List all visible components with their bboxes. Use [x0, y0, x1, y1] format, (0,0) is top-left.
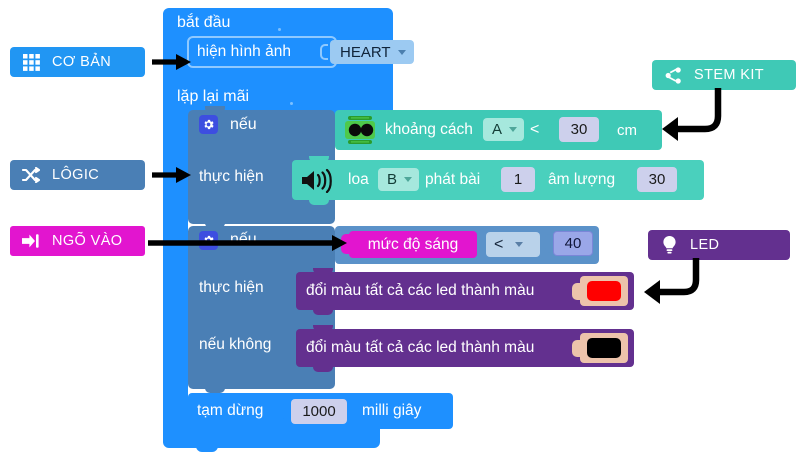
speaker-block-top-notch — [309, 156, 329, 162]
led-then-color-swatch[interactable] — [580, 276, 628, 306]
badge-logic-label: LÔGIC — [52, 167, 99, 183]
forever-label: lặp lại mãi — [177, 88, 249, 106]
speaker-volume-value: 30 — [649, 171, 666, 188]
badge-ngo-vao-label: NGÕ VÀO — [52, 233, 122, 249]
comparison-value-field[interactable]: 40 — [553, 231, 593, 256]
speaker-volume-field[interactable]: 30 — [637, 167, 677, 192]
speaker-track-value: 1 — [514, 171, 522, 188]
distance-value: 30 — [571, 121, 588, 138]
on-start-label: bắt đầu — [177, 14, 230, 32]
badge-led-label: LED — [690, 237, 719, 253]
if-2-do-label: thực hiện — [199, 279, 264, 297]
chevron-down-icon — [515, 242, 523, 247]
led-then-bottom-notch — [313, 308, 333, 315]
brightness-sensor-label: mức độ sáng — [368, 236, 459, 254]
speaker-icon — [300, 168, 336, 193]
if-1-keyword: nếu — [230, 116, 257, 134]
pause-unit: milli giây — [362, 402, 421, 420]
badge-stem-kit[interactable]: STEM KIT — [652, 60, 796, 90]
show-image-label: hiện hình ảnh — [197, 43, 291, 61]
badge-co-ban-label: CƠ BẢN — [52, 54, 111, 70]
arrow-co-ban — [152, 53, 192, 71]
chevron-down-icon — [404, 177, 412, 182]
distance-value-field[interactable]: 30 — [559, 117, 599, 142]
pause-bottom-notch — [205, 427, 225, 434]
comparison-operator-dropdown[interactable]: < — [486, 232, 540, 257]
chevron-down-icon — [509, 127, 517, 132]
show-image-dropdown[interactable]: HEART — [330, 40, 414, 64]
badge-co-ban[interactable]: CƠ BẢN — [10, 47, 145, 77]
shuffle-icon — [21, 165, 41, 185]
speaker-label-3: âm lượng — [548, 171, 615, 189]
comparison-operator-value: < — [494, 236, 503, 254]
if-2-else-label: nếu không — [199, 336, 271, 354]
arrow-ngo-vao — [148, 234, 348, 252]
speaker-track-field[interactable]: 1 — [501, 167, 535, 192]
lightbulb-icon — [659, 235, 679, 255]
arrow-led — [640, 258, 728, 306]
grid-icon — [21, 52, 41, 72]
brightness-sensor-block[interactable]: mức độ sáng — [349, 231, 477, 258]
led-then-color-fill — [587, 281, 621, 301]
sign-in-icon — [21, 231, 41, 251]
pause-value-field[interactable]: 1000 — [291, 399, 347, 424]
distance-operator: < — [530, 121, 539, 139]
on-start-dot — [278, 28, 281, 31]
badge-logic[interactable]: LÔGIC — [10, 160, 145, 190]
blocks-diagram-canvas: bắt đầu hiện hình ảnh HEART lặp lại mãi … — [0, 0, 806, 461]
if-1-do-label: thực hiện — [199, 168, 264, 186]
if-2-bottom-notch — [205, 386, 225, 393]
led-else-top-notch — [313, 325, 333, 331]
led-else-color-swatch[interactable] — [580, 333, 628, 363]
distance-label: khoảng cách — [385, 121, 473, 139]
chevron-down-icon — [398, 50, 406, 55]
led-else-bottom-notch — [313, 365, 333, 372]
speaker-block-bottom-notch — [309, 198, 329, 205]
badge-ngo-vao[interactable]: NGÕ VÀO — [10, 226, 145, 256]
led-then-label: đổi màu tất cả các led thành màu — [306, 282, 534, 300]
led-then-top-notch — [313, 268, 333, 274]
pause-label: tạm dừng — [197, 402, 263, 420]
speaker-port-value: B — [387, 171, 397, 188]
forever-dot — [290, 102, 293, 105]
badge-led[interactable]: LED — [648, 230, 790, 260]
show-image-socket-tab — [320, 44, 328, 60]
speaker-label-1: loa — [348, 171, 369, 189]
led-else-color-fill — [587, 338, 621, 358]
badge-stem-kit-label: STEM KIT — [694, 67, 764, 83]
speaker-label-2: phát bài — [425, 171, 480, 189]
ultrasonic-sensor-icon — [342, 114, 378, 146]
arrow-logic — [152, 166, 192, 184]
led-else-label: đổi màu tất cả các led thành màu — [306, 339, 534, 357]
distance-port-dropdown[interactable]: A — [483, 118, 524, 141]
speaker-port-dropdown[interactable]: B — [378, 168, 419, 191]
if-1-gear-icon[interactable] — [199, 115, 218, 134]
forever-bottom-notch — [196, 444, 218, 452]
pause-value: 1000 — [302, 403, 335, 420]
comparison-value: 40 — [565, 235, 582, 252]
arrow-stem-kit — [658, 88, 746, 144]
distance-port-value: A — [492, 121, 502, 138]
distance-unit: cm — [617, 122, 637, 139]
share-icon — [663, 65, 683, 85]
if-1-notch-top — [205, 106, 225, 113]
show-image-dropdown-value: HEART — [340, 44, 391, 61]
